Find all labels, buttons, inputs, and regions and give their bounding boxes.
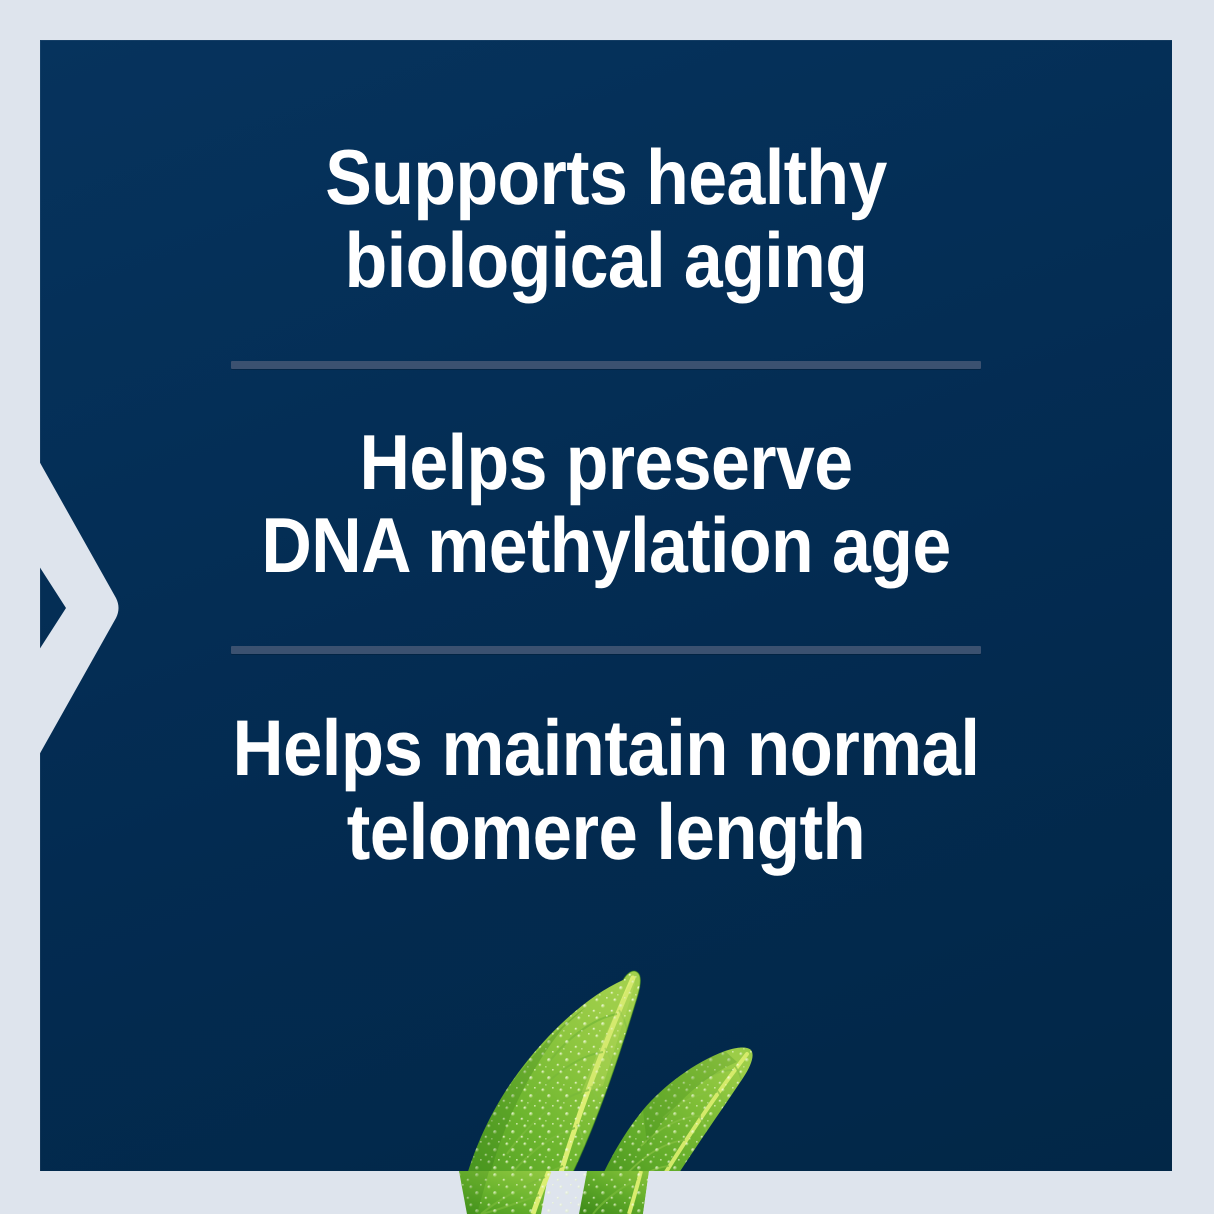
product-benefits-graphic: Supports healthy biological aging Helps … bbox=[0, 0, 1214, 1214]
leaf-bottom-continuation bbox=[437, 1171, 817, 1214]
chevron-right-glyph bbox=[0, 452, 120, 764]
chevron-right-icon bbox=[0, 452, 120, 764]
leaf-overflow-bottom bbox=[437, 1171, 817, 1214]
